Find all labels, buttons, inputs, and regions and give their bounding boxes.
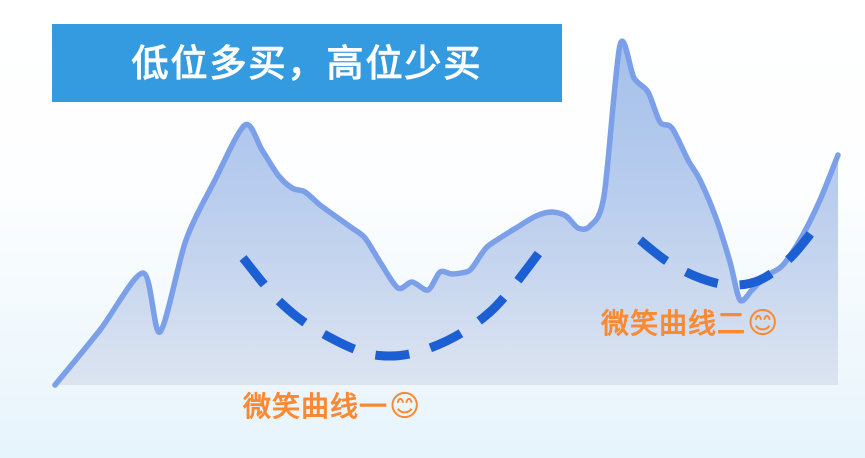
smile-curve-two-label-text: 微笑曲线二 (601, 310, 746, 338)
smiling-face-icon: 😊 (389, 392, 421, 422)
infographic-canvas: 低位多买，高位少买 微笑曲线一 😊 微笑曲线二 😊 (0, 0, 865, 458)
smiling-face-icon: 😊 (747, 309, 779, 339)
smile-curve-two-label: 微笑曲线二 😊 (601, 309, 779, 339)
smile-curve-one-label: 微笑曲线一 😊 (243, 392, 421, 422)
smile-curve-one-label-text: 微笑曲线一 (243, 393, 388, 421)
banner-title-text: 低位多买，高位少买 (132, 45, 483, 82)
title-banner: 低位多买，高位少买 (52, 24, 562, 102)
